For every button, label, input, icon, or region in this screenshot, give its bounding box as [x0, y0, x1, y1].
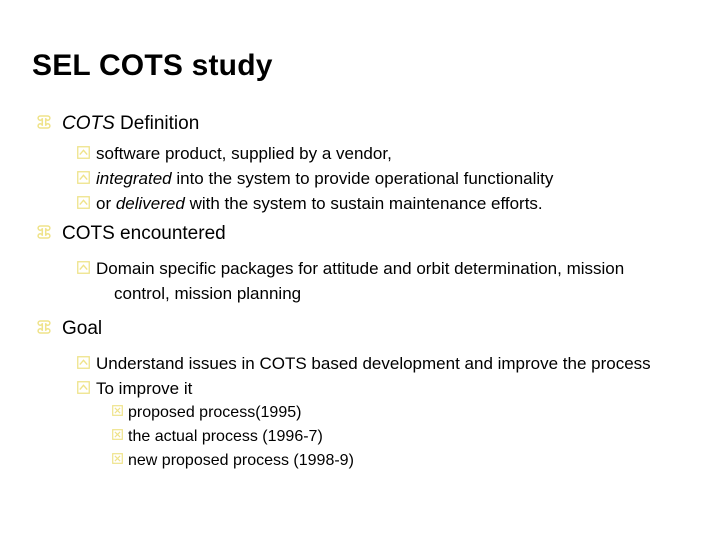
bullet-text: Domain specific packages for attitude an… [96, 256, 684, 306]
bullet-text-line1: Domain specific packages for attitude an… [96, 259, 624, 278]
wingdings-chevron-box-icon [77, 141, 96, 159]
bullet-text-line2: control, mission planning [96, 281, 684, 306]
italic-term-integrated: integrated [96, 169, 172, 188]
bullet-text-prefix: or [96, 194, 116, 213]
bullet-level2-software-product: software product, supplied by a vendor, [0, 141, 720, 166]
bullet-level1-cots-definition: COTS Definition [0, 110, 720, 137]
bullet-text-suffix: Definition [115, 113, 200, 134]
bullet-text-suffix: with the system to sustain maintenance e… [185, 194, 543, 213]
bullet-text-suffix: into the system to provide operational f… [172, 169, 554, 188]
bullet-text: proposed process(1995) [128, 401, 720, 425]
wingdings-command-loop-icon [36, 315, 62, 335]
bullet-text: Goal [62, 315, 720, 342]
bullet-text: integrated into the system to provide op… [96, 166, 696, 191]
bullet-level2-delivered: or delivered with the system to sustain … [0, 191, 720, 216]
spacer [0, 247, 720, 256]
bullet-text: the actual process (1996-7) [128, 425, 720, 449]
wingdings-command-loop-icon [36, 110, 62, 130]
bullet-level3-new-proposed-process-1998-9: new proposed process (1998-9) [0, 449, 720, 473]
bullet-text: Understand issues in COTS based developm… [96, 351, 684, 376]
bullet-text: COTS Definition [62, 110, 720, 137]
bullet-level2-integrated: integrated into the system to provide op… [0, 166, 720, 191]
wingdings-command-loop-icon [36, 220, 62, 240]
slide-body-outline: COTS Definition software product, suppli… [0, 110, 720, 473]
bullet-level2-understand-issues: Understand issues in COTS based developm… [0, 351, 720, 376]
wingdings-chevron-box-icon [77, 191, 96, 209]
wingdings-chevron-box-icon [77, 376, 96, 394]
wingdings-x-box-icon [112, 425, 128, 440]
wingdings-x-box-icon [112, 449, 128, 464]
bullet-text: new proposed process (1998-9) [128, 449, 720, 473]
bullet-level3-proposed-process-1995: proposed process(1995) [0, 401, 720, 425]
spacer [0, 342, 720, 351]
bullet-text: software product, supplied by a vendor, [96, 141, 696, 166]
bullet-level2-to-improve-it: To improve it [0, 376, 720, 401]
wingdings-chevron-box-icon [77, 166, 96, 184]
bullet-level2-domain-packages: Domain specific packages for attitude an… [0, 256, 720, 306]
wingdings-x-box-icon [112, 401, 128, 416]
wingdings-chevron-box-icon [77, 351, 96, 369]
bullet-text: To improve it [96, 376, 696, 401]
spacer [0, 306, 720, 315]
bullet-level1-goal: Goal [0, 315, 720, 342]
bullet-level3-actual-process-1996-7: the actual process (1996-7) [0, 425, 720, 449]
slide-title: SEL COTS study [32, 49, 273, 83]
italic-term-cots: COTS [62, 113, 115, 134]
wingdings-chevron-box-icon [77, 256, 96, 274]
bullet-level1-cots-encountered: COTS encountered [0, 220, 720, 247]
slide: SEL COTS study COTS Definition software … [0, 0, 720, 540]
bullet-text: or delivered with the system to sustain … [96, 191, 696, 216]
bullet-text: COTS encountered [62, 220, 720, 247]
italic-term-delivered: delivered [116, 194, 185, 213]
